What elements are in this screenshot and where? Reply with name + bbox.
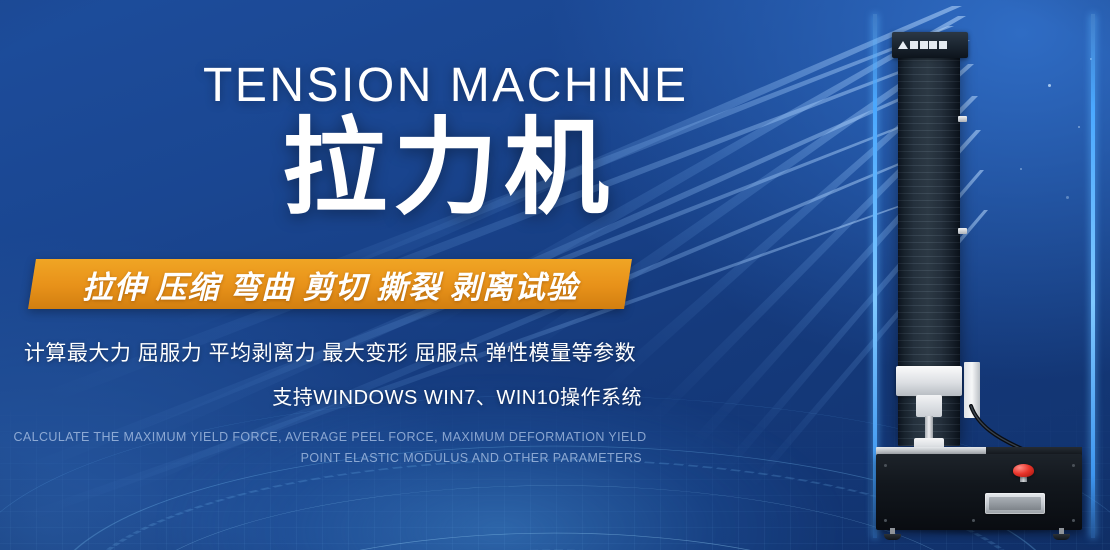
feature-ribbon-label: 拉伸 压缩 弯曲 剪切 撕裂 剥离试验	[32, 259, 628, 309]
base-screw	[1072, 464, 1075, 467]
triangle-logo-icon	[898, 41, 908, 49]
machine-foot	[884, 528, 901, 540]
machine-base-cabinet	[876, 454, 1082, 530]
brand-logo	[898, 38, 962, 51]
page-title-english: TENSION MACHINE	[203, 58, 689, 113]
column-glow-strip-right	[1091, 14, 1095, 538]
base-screw	[884, 464, 887, 467]
column-sensor-upper	[958, 116, 967, 122]
column-sensor-lower	[958, 228, 967, 234]
machine-crosshead	[896, 366, 962, 396]
emergency-stop-button[interactable]	[1013, 464, 1034, 477]
base-screw	[972, 519, 975, 522]
control-panel-display	[989, 497, 1041, 510]
ring-3	[114, 485, 996, 550]
product-image-tensile-machine	[868, 14, 1100, 538]
ring-4	[193, 533, 917, 550]
base-screw	[884, 519, 887, 522]
feature-text-os-support: 支持WINDOWS WIN7、WIN10操作系统	[0, 381, 660, 410]
grip-connecting-rod	[925, 416, 933, 438]
subtitle-english-line-2: POINT ELASTIC MODULUS AND OTHER PARAMETE…	[0, 451, 660, 465]
feature-text-parameters: 计算最大力 屈服力 平均剥离力 最大变形 屈服点 弹性模量等参数	[0, 337, 660, 367]
upper-grip	[916, 395, 942, 417]
machine-foot	[1053, 528, 1070, 540]
subtitle-english-line-1: CALCULATE THE MAXIMUM YIELD FORCE, AVERA…	[0, 430, 660, 444]
base-screw	[1072, 519, 1075, 522]
promo-banner: TENSION MACHINE 拉力机 拉伸 压缩 弯曲 剪切 撕裂 剥离试验 …	[0, 0, 1110, 550]
brand-text-glyphs	[910, 41, 947, 49]
page-title-chinese: 拉力机	[282, 112, 615, 225]
